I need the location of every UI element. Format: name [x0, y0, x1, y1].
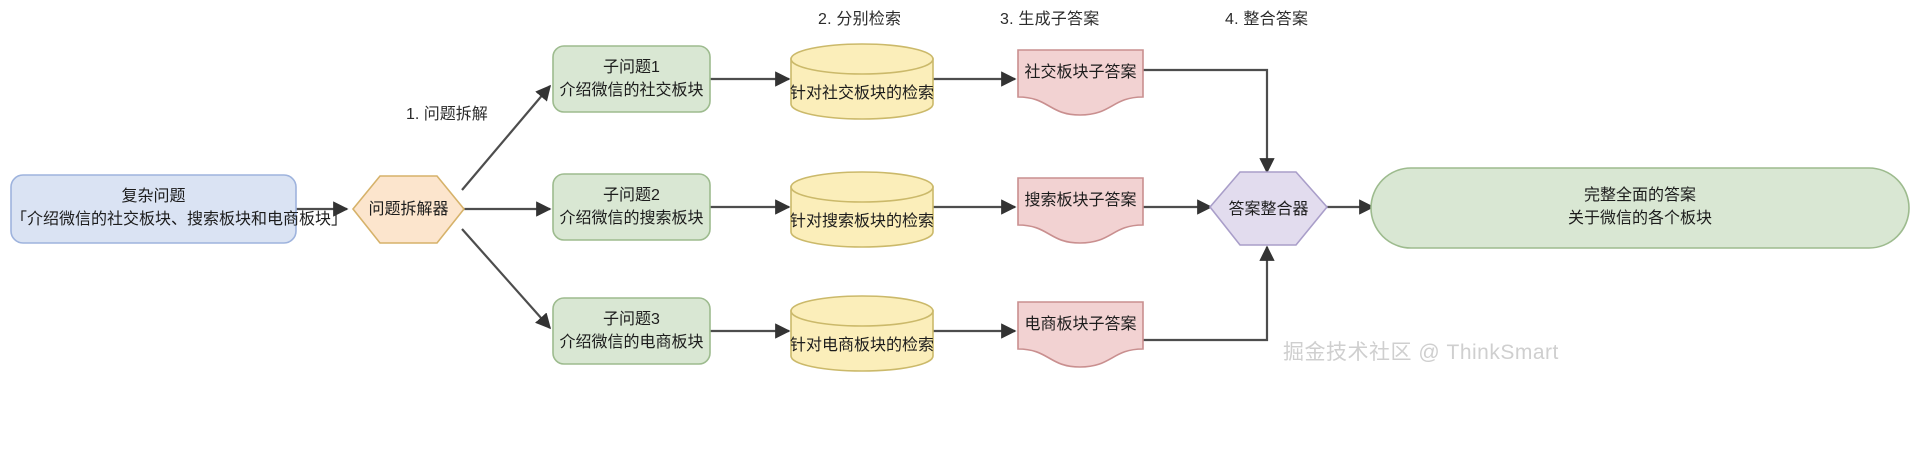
node-retrieve2[interactable]	[791, 172, 933, 247]
stage-label-4: 4. 整合答案	[1225, 5, 1308, 29]
nodes-layer	[0, 0, 1918, 462]
stage-label-1: 1. 问题拆解	[406, 100, 488, 124]
node-final[interactable]	[1371, 168, 1909, 248]
node-input[interactable]	[11, 175, 296, 243]
node-answer3[interactable]	[1018, 302, 1143, 367]
node-sub2[interactable]	[553, 174, 710, 240]
node-sub1[interactable]	[553, 46, 710, 112]
watermark: 掘金技术社区 @ ThinkSmart	[1283, 336, 1559, 366]
diagram-canvas: 复杂问题 「介绍微信的社交板块、搜索板块和电商板块」 问题拆解器 子问题1 介绍…	[0, 0, 1918, 462]
stage-label-2: 2. 分别检索	[818, 5, 901, 29]
node-answer1[interactable]	[1018, 50, 1143, 115]
node-answer2[interactable]	[1018, 178, 1143, 243]
node-decomposer[interactable]	[353, 176, 464, 243]
node-retrieve1[interactable]	[791, 44, 933, 119]
node-sub3[interactable]	[553, 298, 710, 364]
node-integrator[interactable]	[1210, 172, 1327, 245]
stage-label-3: 3. 生成子答案	[1000, 5, 1099, 29]
node-retrieve3[interactable]	[791, 296, 933, 371]
